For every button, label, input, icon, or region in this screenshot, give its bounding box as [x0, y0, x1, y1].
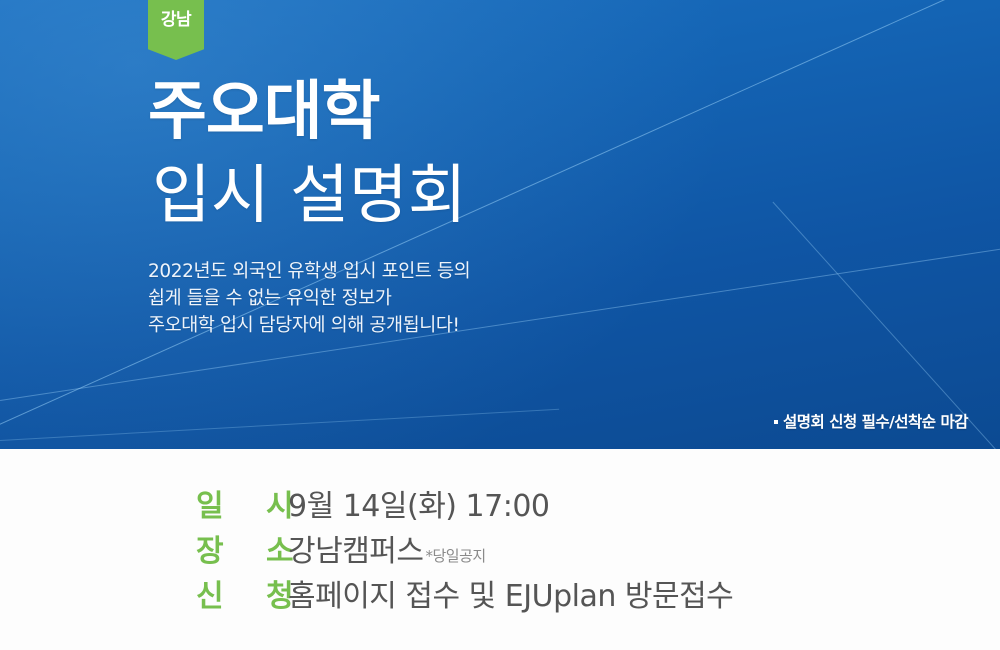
info-note-location: *당일공지	[426, 545, 486, 566]
info-row-location: 장 소 강남캠퍼스 *당일공지	[196, 526, 733, 571]
info-value-application: 홈페이지 접수 및 EJUplan 방문접수	[288, 571, 733, 615]
info-label-application: 신 청	[196, 571, 288, 615]
info-value-datetime: 9월 14일(화) 17:00	[288, 481, 550, 525]
headline-block: 주오대학 입시 설명회	[148, 80, 848, 228]
diagonal-line-lower	[0, 409, 559, 441]
event-poster: 강남 주오대학 입시 설명회 2022년도 외국인 유학생 입시 포인트 등의 …	[0, 0, 1000, 650]
info-row-list: 일 시 9월 14일(화) 17:00 장 소 강남캠퍼스 *당일공지 신 청 …	[196, 481, 733, 616]
info-label-datetime: 일 시	[196, 481, 288, 525]
campus-ribbon-badge: 강남	[148, 0, 204, 60]
registration-note-text: 설명회 신청 필수/선착순 마감	[783, 413, 968, 431]
poster-title-secondary: 입시 설명회	[148, 164, 848, 228]
campus-ribbon-label: 강남	[161, 12, 191, 29]
registration-note: 설명회 신청 필수/선착순 마감	[774, 410, 968, 432]
description-line-2: 쉽게 들을 수 없는 유익한 정보가	[148, 285, 470, 312]
poster-title-primary: 주오대학	[148, 80, 848, 144]
description-line-1: 2022년도 외국인 유학생 입시 포인트 등의	[148, 258, 470, 285]
info-label-location: 장 소	[196, 526, 288, 570]
bullet-icon	[774, 420, 778, 424]
description-line-3: 주오대학 입시 담당자에 의해 공개됩니다!	[148, 312, 470, 339]
info-row-datetime: 일 시 9월 14일(화) 17:00	[196, 481, 733, 526]
info-value-location: 강남캠퍼스	[288, 526, 424, 570]
info-section: 일 시 9월 14일(화) 17:00 장 소 강남캠퍼스 *당일공지 신 청 …	[0, 449, 1000, 650]
info-row-application: 신 청 홈페이지 접수 및 EJUplan 방문접수	[196, 571, 733, 616]
poster-description: 2022년도 외국인 유학생 입시 포인트 등의 쉽게 들을 수 없는 유익한 …	[148, 258, 470, 340]
hero-section: 강남 주오대학 입시 설명회 2022년도 외국인 유학생 입시 포인트 등의 …	[0, 0, 1000, 449]
